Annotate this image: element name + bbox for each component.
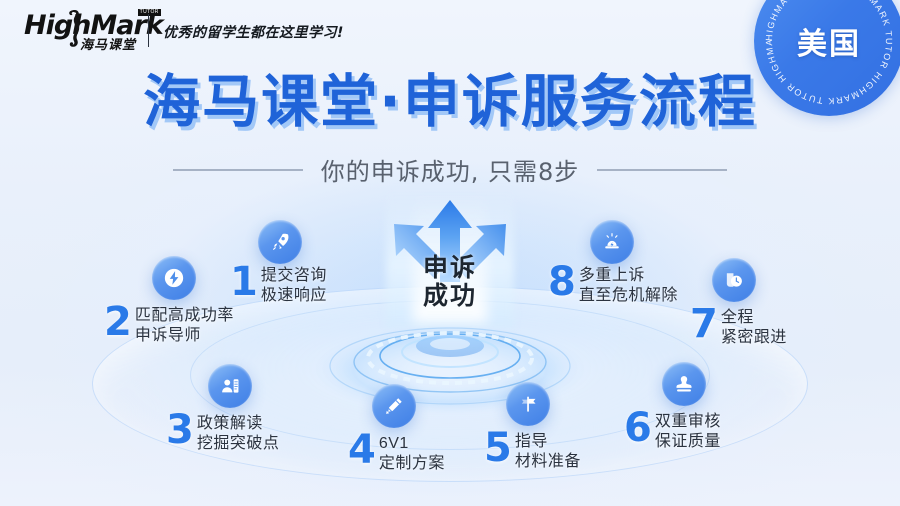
step-2-icon-badge[interactable]	[152, 256, 196, 300]
step-6-line1: 双重审核	[655, 412, 721, 432]
step-4-line1: 6V1	[379, 434, 445, 454]
step-2-line2: 申诉导师	[135, 326, 234, 346]
step-5-icon-badge[interactable]	[506, 382, 550, 426]
infographic-canvas: HighMark TUTOR 海马课堂 优秀的留学生都在这里学习! HIGHMA…	[0, 0, 900, 506]
step-5-number: 5	[484, 430, 512, 467]
step-3-text: 政策解读 挖掘突破点	[197, 412, 280, 453]
step-7-line1: 全程	[721, 308, 787, 328]
stamp-icon	[673, 373, 695, 395]
step-3-line2: 挖掘突破点	[197, 434, 280, 454]
id-card-icon	[219, 375, 241, 397]
lightning-bolt-icon	[163, 267, 185, 289]
logo-chinese-name: 海马课堂	[80, 39, 136, 52]
step-4-body: 4 6V1 定制方案	[348, 432, 445, 473]
step-4[interactable]: 4 6V1 定制方案	[348, 384, 488, 474]
step-7-body: 7 全程 紧密跟进	[690, 306, 787, 347]
step-5[interactable]: 5 指导 材料准备	[484, 382, 634, 472]
step-2-text: 匹配高成功率 申诉导师	[135, 304, 234, 345]
rocket-icon	[269, 231, 291, 253]
step-5-line2: 材料准备	[515, 452, 581, 472]
header-divider	[148, 14, 149, 47]
step-7-number: 7	[690, 306, 718, 343]
step-8-body: 8 多重上诉 直至危机解除	[548, 264, 678, 305]
step-2[interactable]: 2 匹配高成功率 申诉导师	[104, 256, 294, 346]
seahorse-icon	[66, 8, 82, 48]
step-4-icon-badge[interactable]	[372, 384, 416, 428]
step-6[interactable]: 6 双重审核 保证质量	[624, 362, 784, 452]
brand-logo[interactable]: HighMark TUTOR 海马课堂	[24, 12, 163, 39]
step-3[interactable]: 3 政策解读 挖掘突破点	[166, 364, 346, 454]
step-4-line2: 定制方案	[379, 454, 445, 474]
logo-tutor-tag: TUTOR	[138, 9, 161, 16]
subtitle-rule-left	[173, 169, 303, 171]
step-8-line2: 直至危机解除	[579, 286, 678, 306]
step-6-text: 双重审核 保证质量	[655, 410, 721, 451]
step-7-text: 全程 紧密跟进	[721, 306, 787, 347]
step-5-line1: 指导	[515, 432, 581, 452]
step-8-icon-badge[interactable]	[590, 220, 634, 264]
step-2-body: 2 匹配高成功率 申诉导师	[104, 304, 234, 345]
step-6-icon-badge[interactable]	[662, 362, 706, 406]
step-3-line1: 政策解读	[197, 414, 280, 434]
step-4-text: 6V1 定制方案	[379, 432, 445, 473]
step-6-body: 6 双重审核 保证质量	[624, 410, 721, 451]
step-8-line1: 多重上诉	[579, 266, 678, 286]
step-6-line2: 保证质量	[655, 432, 721, 452]
step-4-number: 4	[348, 432, 376, 469]
page-subtitle: 你的申诉成功, 只需8步	[321, 152, 580, 187]
step-8[interactable]: 8 多重上诉 直至危机解除	[548, 220, 738, 310]
logo-wordmark: HighMark	[24, 12, 163, 39]
page-title: 海马课堂·申诉服务流程	[0, 74, 900, 131]
step-8-number: 8	[548, 264, 576, 301]
signpost-icon	[517, 393, 539, 415]
badge-country-name: 美国	[754, 19, 900, 63]
step-8-text: 多重上诉 直至危机解除	[579, 264, 678, 305]
header-tagline: 优秀的留学生都在这里学习!	[163, 22, 344, 42]
step-3-icon-badge[interactable]	[208, 364, 252, 408]
subtitle-row: 你的申诉成功, 只需8步	[0, 152, 900, 187]
step-5-text: 指导 材料准备	[515, 430, 581, 471]
step-2-line1: 匹配高成功率	[135, 306, 234, 326]
subtitle-rule-right	[597, 169, 727, 171]
step-6-number: 6	[624, 410, 652, 447]
step-5-body: 5 指导 材料准备	[484, 430, 581, 471]
step-3-number: 3	[166, 412, 194, 449]
alarm-siren-icon	[601, 231, 623, 253]
step-3-body: 3 政策解读 挖掘突破点	[166, 412, 279, 453]
pencil-icon	[383, 395, 405, 417]
step-2-number: 2	[104, 304, 132, 341]
step-7-line2: 紧密跟进	[721, 328, 787, 348]
